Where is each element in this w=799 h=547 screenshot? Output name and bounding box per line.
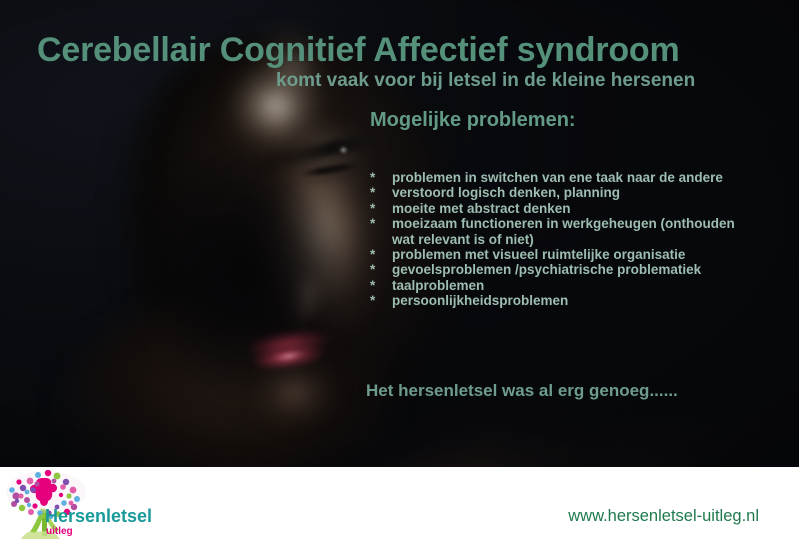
list-item-label: problemen met visueel ruimtelijke organi… — [392, 247, 799, 262]
hersenletsel-uitleg-logo[interactable]: Hersenletsel uitleg — [4, 470, 154, 544]
poster: Cerebellair Cognitief Affectief syndroom… — [0, 0, 799, 547]
logo-name-text: Hersenletsel — [45, 506, 152, 526]
section-heading: Mogelijke problemen: — [370, 109, 576, 132]
closing-statement: Het hersenletsel was al erg genoeg...... — [366, 381, 678, 401]
list-item: * moeizaam functioneren in werkgeheugen … — [370, 216, 799, 231]
list-item: * taalproblemen — [370, 278, 799, 293]
poster-title: Cerebellair Cognitief Affectief syndroom — [37, 31, 680, 70]
asterisk-bullet-icon: * — [370, 185, 392, 200]
website-url[interactable]: www.hersenletsel-uitleg.nl — [568, 507, 759, 526]
list-item-label: taalproblemen — [392, 278, 799, 293]
list-item-label: gevoelsproblemen /psychiatrische problem… — [392, 262, 799, 277]
list-item: * moeite met abstract denken — [370, 201, 799, 216]
asterisk-bullet-icon: * — [370, 278, 392, 293]
asterisk-bullet-icon: * — [370, 216, 392, 231]
hero-photo-stage: Cerebellair Cognitief Affectief syndroom… — [0, 0, 799, 467]
list-item-label: verstoord logisch denken, planning — [392, 185, 799, 200]
list-item: * verstoord logisch denken, planning — [370, 185, 799, 200]
poster-subtitle: komt vaak voor bij letsel in de kleine h… — [276, 70, 695, 92]
asterisk-bullet-icon: * — [370, 247, 392, 262]
list-item-label: persoonlijkheidsproblemen — [392, 293, 799, 308]
logo-tagline-text: uitleg — [46, 526, 73, 537]
list-item-label: moeite met abstract denken — [392, 201, 799, 216]
list-item: * problemen in switchen van ene taak naa… — [370, 170, 799, 185]
list-item: * gevoelsproblemen /psychiatrische probl… — [370, 262, 799, 277]
list-item-label: moeizaam functioneren in werkgeheugen (o… — [392, 216, 799, 231]
asterisk-bullet-icon: * — [370, 170, 392, 185]
asterisk-bullet-icon: * — [370, 293, 392, 308]
asterisk-bullet-icon: * — [370, 262, 392, 277]
list-item: * persoonlijkheidsproblemen — [370, 293, 799, 308]
footer-bar: Hersenletsel uitleg www.hersenletsel-uit… — [0, 467, 799, 547]
problems-list: * problemen in switchen van ene taak naa… — [370, 170, 799, 309]
list-item-continuation: wat relevant is of niet) — [370, 232, 799, 247]
list-item: * problemen met visueel ruimtelijke orga… — [370, 247, 799, 262]
asterisk-bullet-icon: * — [370, 201, 392, 216]
list-item-label: problemen in switchen van ene taak naar … — [392, 170, 799, 185]
